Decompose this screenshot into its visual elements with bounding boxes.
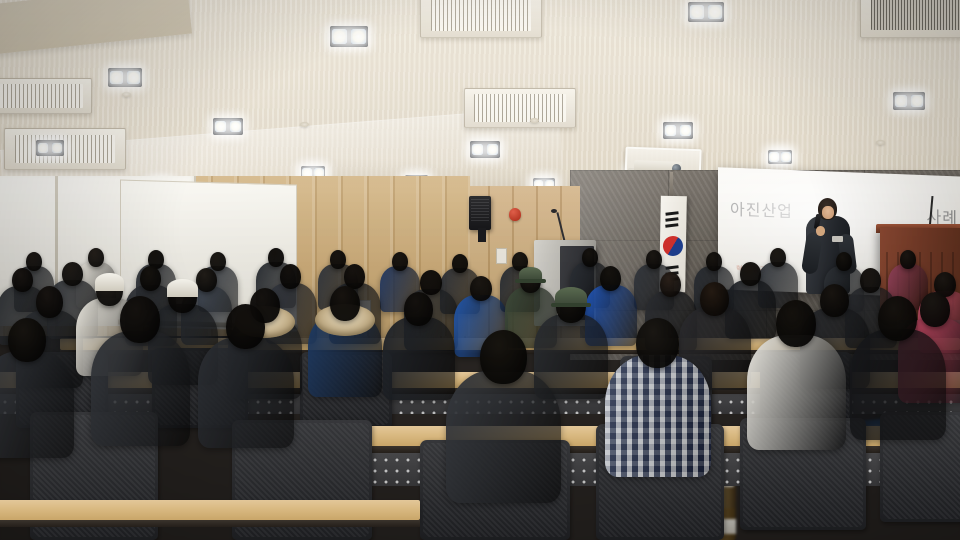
audience-member-head <box>582 248 598 267</box>
cap-brim <box>515 279 546 283</box>
audience-member-head <box>62 262 83 286</box>
audience-member-head <box>920 292 950 327</box>
audience-member-head <box>404 292 433 326</box>
audience-member-head <box>226 304 265 349</box>
ceiling-downlight <box>36 140 64 156</box>
audience-member-head <box>452 254 468 273</box>
beanie-hat <box>95 273 124 291</box>
wall-speaker-grill <box>471 199 489 221</box>
audience-member-head <box>210 252 226 271</box>
gooseneck-microphone-head <box>551 209 557 213</box>
ceiling-downlight <box>108 68 142 87</box>
audience-member-head <box>480 330 527 384</box>
audience-member-head <box>196 268 217 292</box>
ceiling-downlight <box>768 150 792 164</box>
trigram-bar <box>665 211 678 216</box>
audience-member-head <box>660 272 681 297</box>
audience-member-head <box>392 252 408 271</box>
audience-member-head <box>836 252 852 271</box>
desk-edge <box>0 520 420 527</box>
ceiling-downlight <box>663 122 693 139</box>
audience-member-body <box>383 317 455 400</box>
ac-vent-grill <box>474 94 566 121</box>
audience-member-head <box>776 300 816 347</box>
audience-member-body <box>850 329 946 440</box>
fire-alarm-bell-icon <box>509 208 521 221</box>
beanie-hat <box>167 279 198 297</box>
ceiling-downlight <box>330 26 368 47</box>
audience-member-head <box>268 248 284 267</box>
audience-member-head <box>878 296 917 341</box>
wall-speaker-mount <box>478 228 486 242</box>
audience-member-body <box>91 331 190 446</box>
audience-member-head <box>636 318 679 368</box>
audience-member-body <box>747 335 846 450</box>
audience-member-head <box>330 250 346 269</box>
seminar-room-photo: 아진산업 사례 혁신 성공 개발 SEMINAR PROGRAM GUIDE20… <box>0 0 960 540</box>
audience-member-head <box>140 266 161 291</box>
ceiling-downlight <box>213 118 243 135</box>
audience-member-body <box>0 351 74 458</box>
desk <box>0 500 420 520</box>
audience-member-head <box>646 250 662 269</box>
audience-member-head <box>8 318 46 362</box>
plaid-shirt-pattern <box>605 355 711 477</box>
presenter-badge <box>832 236 843 242</box>
audience-member-head <box>420 270 442 295</box>
smoke-detector <box>300 122 309 127</box>
audience-member-head <box>12 268 33 292</box>
audience-member-head <box>820 284 849 317</box>
audience-member-head <box>700 282 729 316</box>
audience-member-body <box>446 370 561 503</box>
audience-member-head <box>88 248 104 267</box>
presenter-hand <box>816 226 825 236</box>
smoke-detector <box>876 140 885 145</box>
audience-member-head <box>706 252 722 271</box>
audience-member-head <box>280 264 301 289</box>
ac-vent <box>4 128 126 170</box>
light-switch[interactable] <box>496 248 507 264</box>
audience-member-head <box>900 250 916 269</box>
audience-member-head <box>860 268 881 293</box>
audience-member-head <box>120 296 160 343</box>
ceiling-downlight <box>688 2 724 22</box>
audience-member-head <box>36 286 63 318</box>
presenter-face <box>822 206 834 219</box>
ac-vent <box>464 88 576 128</box>
audience-member-head <box>470 276 492 301</box>
audience-member-head <box>740 262 761 286</box>
ac-vent <box>0 78 92 114</box>
slide-title-left: 아진산업 <box>730 196 793 222</box>
smoke-detector <box>530 118 539 123</box>
ac-vent <box>860 0 960 38</box>
ac-vent-grill <box>871 0 960 30</box>
smoke-detector <box>122 92 131 97</box>
audience-member-head <box>26 252 42 271</box>
ac-vent <box>420 0 542 38</box>
audience-member-head <box>770 248 786 267</box>
trigram-bar <box>665 217 678 222</box>
ceiling-downlight <box>470 141 500 158</box>
ceiling-downlight <box>893 92 925 110</box>
taeguk-symbol-icon <box>659 232 686 259</box>
cap-brim <box>551 303 591 307</box>
trigram-bar <box>665 223 678 228</box>
audience-member-body <box>198 337 294 448</box>
ac-vent-grill <box>0 84 83 108</box>
audience-member-head <box>600 266 621 291</box>
ac-vent-grill <box>15 135 116 164</box>
audience-member-head <box>330 286 360 321</box>
ac-vent-grill <box>431 0 532 31</box>
